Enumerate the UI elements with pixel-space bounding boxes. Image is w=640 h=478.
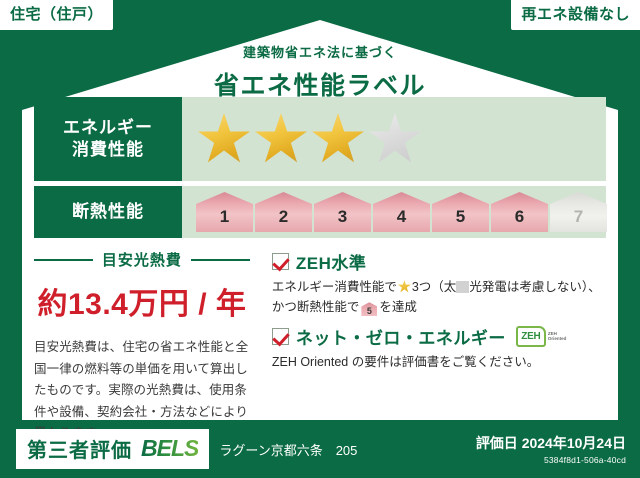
energy-performance-label: 住宅（住戸） 再エネ設備なし 建築物省エネ法に基づく 省エネ性能ラベル エネルギ… — [0, 0, 640, 478]
energy-performance-label: エネルギー 消費性能 — [34, 97, 182, 181]
zeh-house-mark-icon: ZEH — [516, 326, 546, 347]
certificate-serial-number: 5384f8d1-506a-40cd — [476, 455, 626, 465]
zeh-caption-line2: Oriented — [548, 336, 567, 341]
cost-heading-rule-left — [34, 259, 93, 261]
zeh-logo: ZEH ZEH Oriented — [516, 326, 567, 347]
insulation-level-6: 6 — [491, 192, 548, 232]
tag-building-type: 住宅（住戸） — [0, 0, 113, 30]
label-content: エネルギー 消費性能 断熱性能 1 2 3 4 5 6 — [34, 97, 606, 445]
insulation-level-5: 5 — [432, 192, 489, 232]
tag-renewable-equipment: 再エネ設備なし — [511, 0, 640, 30]
inline-insulation-badge-icon: 5 — [361, 302, 377, 316]
energy-star-rating — [182, 97, 606, 181]
certification-checks-column: ZEH水準 エネルギー消費性能で3つ（太光発電は考慮しない）、かつ断熱性能で5を… — [256, 249, 606, 445]
redacted-text-block — [456, 281, 469, 293]
zeh-logo-caption: ZEH Oriented — [548, 331, 567, 341]
net-zero-description: ZEH Oriented の要件は評価書をご覧ください。 — [272, 352, 606, 372]
insulation-level-1: 1 — [196, 192, 253, 232]
bels-badge: 第三者評価 BELS — [12, 429, 209, 469]
footer-evaluation-info: 評価日 2024年10月24日 5384f8d1-506a-40cd — [476, 433, 626, 465]
energy-label-line1: エネルギー — [63, 117, 153, 139]
net-zero-title: ネット・ゼロ・エネルギー — [296, 324, 506, 349]
checkbox-checked-icon — [272, 328, 289, 345]
star-filled-1 — [198, 113, 250, 165]
zeh-standard-description: エネルギー消費性能で3つ（太光発電は考慮しない）、かつ断熱性能で5を達成 — [272, 277, 606, 318]
label-lower-section: 目安光熱費 約13.4万円 / 年 目安光熱費は、住宅の省エネ性能と全国一律の燃… — [34, 249, 606, 445]
utility-cost-column: 目安光熱費 約13.4万円 / 年 目安光熱費は、住宅の省エネ性能と全国一律の燃… — [34, 249, 256, 445]
third-party-evaluation-text: 第三者評価 — [27, 434, 132, 463]
energy-label-line2: 消費性能 — [72, 139, 144, 161]
label-header: 建築物省エネ法に基づく 省エネ性能ラベル — [0, 42, 640, 102]
cost-heading-rule-right — [191, 259, 250, 261]
star-filled-3 — [312, 113, 364, 165]
zeh-standard-title-row: ZEH水準 — [272, 249, 606, 274]
inline-star-icon — [398, 280, 411, 293]
net-zero-title-row: ネット・ゼロ・エネルギー ZEH ZEH Oriented — [272, 324, 606, 349]
utility-cost-amount: 約13.4万円 / 年 — [34, 279, 250, 323]
star-empty-4 — [369, 113, 421, 165]
zeh-desc-part3: を達成 — [379, 300, 417, 314]
zeh-standard-check-item: ZEH水準 エネルギー消費性能で3つ（太光発電は考慮しない）、かつ断熱性能で5を… — [272, 249, 606, 318]
evaluation-date: 評価日 2024年10月24日 — [476, 433, 626, 453]
label-footer: 第三者評価 BELS ラグーン京都六条 205 評価日 2024年10月24日 … — [0, 420, 640, 478]
insulation-performance-row: 断熱性能 1 2 3 4 5 6 7 — [34, 186, 606, 238]
insulation-level-7: 7 — [550, 192, 607, 232]
zeh-desc-star-count: 3つ（太 — [412, 280, 456, 294]
energy-performance-row: エネルギー 消費性能 — [34, 97, 606, 181]
insulation-level-scale: 1 2 3 4 5 6 7 — [182, 186, 609, 238]
star-filled-2 — [255, 113, 307, 165]
zeh-desc-part1: エネルギー消費性能で — [272, 280, 397, 294]
insulation-level-4: 4 — [373, 192, 430, 232]
insulation-performance-label: 断熱性能 — [34, 186, 182, 238]
net-zero-energy-check-item: ネット・ゼロ・エネルギー ZEH ZEH Oriented ZEH Orient… — [272, 324, 606, 372]
bels-logo-text: BELS — [141, 435, 198, 462]
insulation-level-3: 3 — [314, 192, 371, 232]
header-subtitle: 建築物省エネ法に基づく — [0, 42, 640, 61]
utility-cost-heading: 目安光熱費 — [34, 249, 250, 270]
checkbox-checked-icon — [272, 253, 289, 270]
building-name: ラグーン京都六条 205 — [219, 440, 357, 459]
zeh-standard-title: ZEH水準 — [296, 249, 367, 274]
insulation-level-2: 2 — [255, 192, 312, 232]
cost-heading-text: 目安光熱費 — [93, 249, 191, 270]
